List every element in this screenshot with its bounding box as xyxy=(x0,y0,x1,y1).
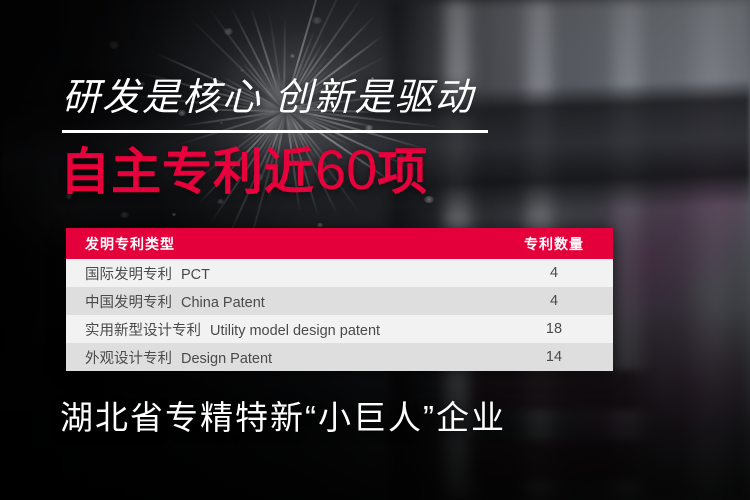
table-row: 外观设计专利Design Patent14 xyxy=(66,343,613,371)
table-header-row: 发明专利类型 专利数量 xyxy=(66,228,613,259)
patent-type-cn: 国际发明专利 xyxy=(85,267,172,283)
cell-patent-type: 实用新型设计专利Utility model design patent xyxy=(66,315,495,343)
table-row: 实用新型设计专利Utility model design patent18 xyxy=(66,315,613,343)
patent-type-en: China Patent xyxy=(181,295,265,311)
bottom-caption: 湖北省专精特新“小巨人”企业 xyxy=(60,401,506,434)
patent-type-cn: 实用新型设计专利 xyxy=(85,323,201,339)
headline-main-suffix: 项 xyxy=(377,144,428,200)
headline-divider-rule xyxy=(62,130,488,133)
patent-type-cn: 中国发明专利 xyxy=(85,295,172,311)
cell-patent-type: 外观设计专利Design Patent xyxy=(66,343,495,371)
patent-type-en: PCT xyxy=(181,267,210,283)
headline-main-number: 60 xyxy=(315,138,377,201)
patent-table-head: 发明专利类型 专利数量 xyxy=(66,228,613,259)
patent-table: 发明专利类型 专利数量 国际发明专利PCT4中国发明专利China Patent… xyxy=(66,228,613,371)
cell-patent-count: 14 xyxy=(495,343,613,371)
patent-table-body: 国际发明专利PCT4中国发明专利China Patent4实用新型设计专利Uti… xyxy=(66,259,613,371)
headline-subtitle: 研发是核心 创新是驱动 xyxy=(62,79,475,117)
patent-type-en: Utility model design patent xyxy=(210,323,380,339)
patent-type-en: Design Patent xyxy=(181,351,272,367)
cell-patent-type: 国际发明专利PCT xyxy=(66,259,495,287)
table-row: 国际发明专利PCT4 xyxy=(66,259,613,287)
cell-patent-type: 中国发明专利China Patent xyxy=(66,287,495,315)
headline-main-prefix: 自主专利近 xyxy=(60,144,315,200)
cell-patent-count: 18 xyxy=(495,315,613,343)
table-row: 中国发明专利China Patent4 xyxy=(66,287,613,315)
headline-main: 自主专利近60项 xyxy=(60,142,428,198)
banner-content: 研发是核心 创新是驱动 自主专利近60项 发明专利类型 专利数量 国际发明专利P… xyxy=(0,0,750,500)
cell-patent-count: 4 xyxy=(495,287,613,315)
cell-patent-count: 4 xyxy=(495,259,613,287)
column-header-patent-type: 发明专利类型 xyxy=(66,228,495,259)
column-header-patent-count: 专利数量 xyxy=(495,228,613,259)
patent-achievement-banner: 研发是核心 创新是驱动 自主专利近60项 发明专利类型 专利数量 国际发明专利P… xyxy=(0,0,750,500)
patent-type-cn: 外观设计专利 xyxy=(85,351,172,367)
